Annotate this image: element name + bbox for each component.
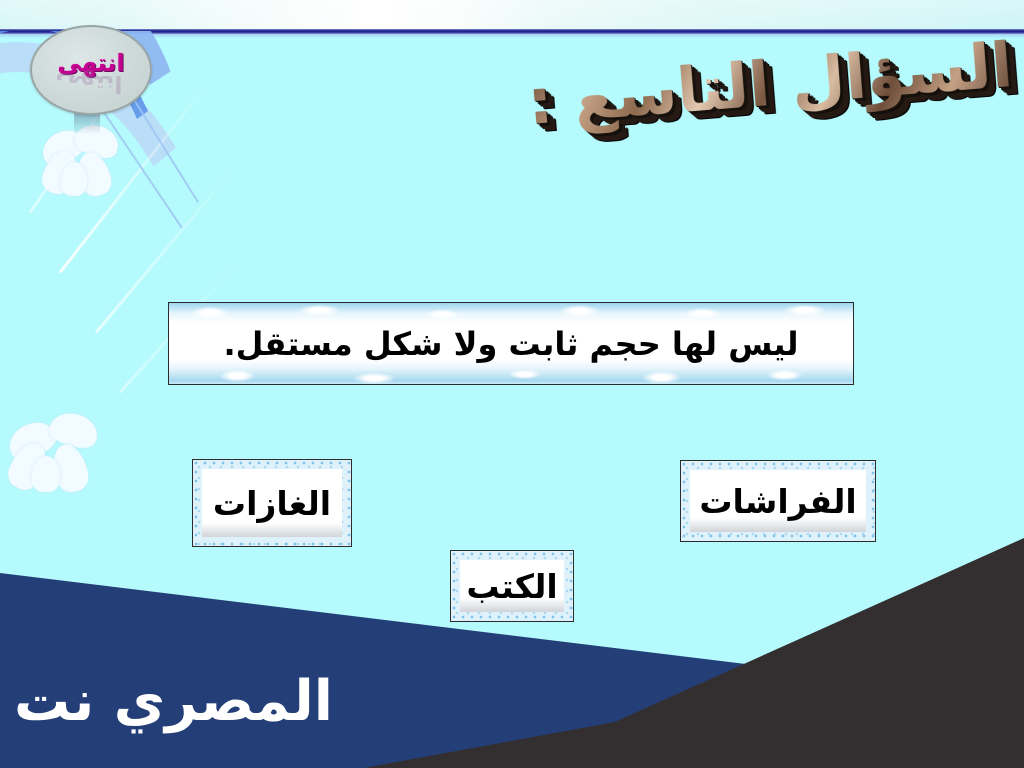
slide-canvas: انتهى انتهى السؤال التاسع : ليس لها حجم … (0, 0, 1024, 768)
answer-label: الفراشات (681, 461, 875, 541)
top-band-fade (0, 0, 1024, 31)
watermark: المصري نت (14, 674, 333, 730)
answer-label: الغازات (193, 460, 351, 546)
question-box: ليس لها حجم ثابت ولا شكل مستقل. (168, 302, 854, 385)
answer-label: الكتب (451, 551, 573, 621)
end-button[interactable]: انتهى (30, 25, 152, 115)
answer-option-butterflies[interactable]: الفراشات (680, 460, 876, 542)
answer-option-gases[interactable]: الغازات (192, 459, 352, 547)
page-title-text: السؤال التاسع : (525, 28, 1015, 139)
end-button-label: انتهى (57, 51, 124, 75)
answer-option-books[interactable]: الكتب (450, 550, 574, 622)
page-title: السؤال التاسع : (540, 28, 1000, 138)
question-text: ليس لها حجم ثابت ولا شكل مستقل. (169, 303, 853, 384)
